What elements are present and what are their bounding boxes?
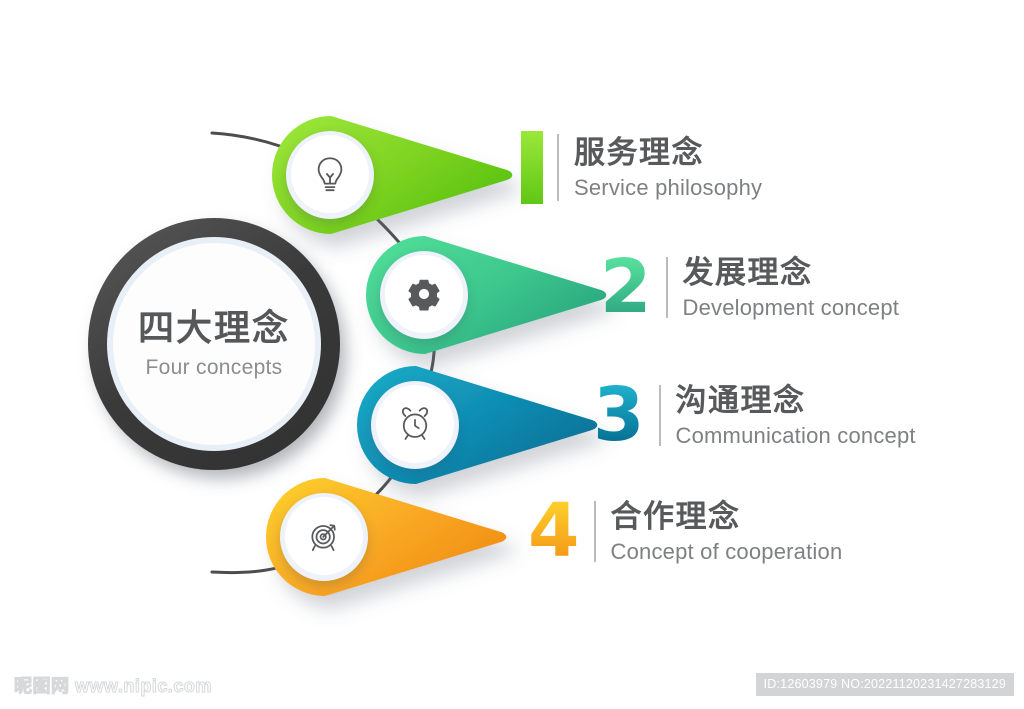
badge-3[interactable] xyxy=(371,381,459,469)
hub-face: 四大理念 Four concepts xyxy=(113,243,315,445)
center-hub: 四大理念 Four concepts xyxy=(88,218,340,470)
row-labels-4: 合作理念 Concept of cooperation xyxy=(611,498,843,565)
row-labels-2: 发展理念 Development concept xyxy=(683,254,900,321)
row-divider-3 xyxy=(659,385,661,446)
badge-face-2 xyxy=(385,255,463,333)
row-number-3: 3 xyxy=(593,385,645,446)
badge-4[interactable] xyxy=(280,493,368,581)
site-watermark: 昵图网 www.nipic.com xyxy=(14,672,212,698)
row-number-2: 2 xyxy=(600,257,652,318)
gear-icon xyxy=(405,275,443,313)
row-text-2: 2 发展理念 Development concept xyxy=(600,254,899,321)
row-title-cn-3: 沟通理念 xyxy=(676,382,916,420)
badge-face-4 xyxy=(285,497,363,575)
lightbulb-icon xyxy=(309,153,351,195)
row-number-1: 1 xyxy=(521,131,543,204)
row-title-cn-1: 服务理念 xyxy=(574,134,762,172)
infographic-canvas: 四大理念 Four concepts xyxy=(0,0,1024,709)
row-labels-3: 沟通理念 Communication concept xyxy=(676,382,916,449)
alarm-clock-icon xyxy=(395,404,435,444)
hub-subtitle: Four concepts xyxy=(146,356,283,380)
badge-2[interactable] xyxy=(380,251,468,339)
hub-title: 四大理念 xyxy=(138,308,290,348)
row-text-4: 4 合作理念 Concept of cooperation xyxy=(528,498,842,565)
row-divider-1 xyxy=(557,134,559,201)
row-title-en-2: Development concept xyxy=(683,294,900,322)
target-arrow-icon xyxy=(304,516,344,556)
row-divider-2 xyxy=(666,257,668,318)
row-title-cn-2: 发展理念 xyxy=(683,254,900,292)
row-text-1: 1 服务理念 Service philosophy xyxy=(521,131,762,204)
row-title-cn-4: 合作理念 xyxy=(611,498,843,536)
image-id-badge: ID:12603979 NO:20221120231427283129 xyxy=(756,673,1014,696)
badge-face-3 xyxy=(376,385,454,463)
hub-ring: 四大理念 Four concepts xyxy=(88,218,340,470)
row-divider-4 xyxy=(594,501,596,562)
row-title-en-4: Concept of cooperation xyxy=(611,538,843,566)
badge-1[interactable] xyxy=(286,131,374,219)
row-labels-1: 服务理念 Service philosophy xyxy=(574,134,762,201)
row-title-en-1: Service philosophy xyxy=(574,174,762,202)
row-title-en-3: Communication concept xyxy=(676,422,916,450)
row-number-4: 4 xyxy=(528,501,580,562)
row-text-3: 3 沟通理念 Communication concept xyxy=(593,382,916,449)
badge-face-1 xyxy=(291,135,369,213)
